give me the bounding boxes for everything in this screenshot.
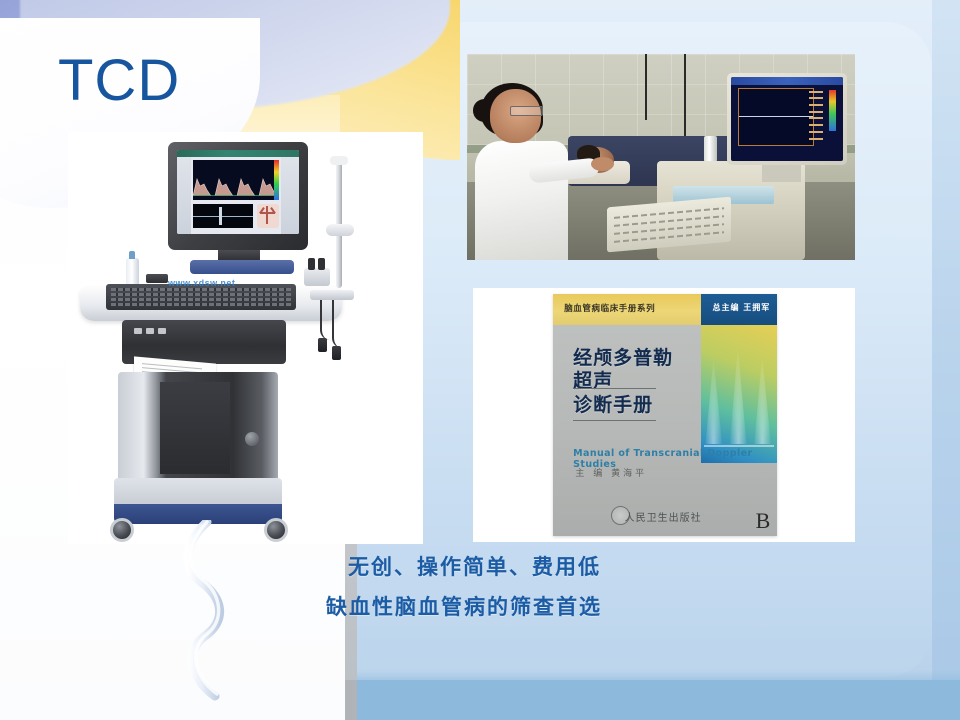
exam-screen-trace bbox=[739, 116, 813, 117]
machine-monitor-screen bbox=[177, 150, 299, 234]
right-edge-gradient bbox=[932, 0, 960, 720]
machine-pole-top-hook bbox=[330, 156, 348, 165]
book-title-line-1: 经颅多普勒 bbox=[573, 347, 673, 370]
machine-monitor-foot bbox=[218, 250, 260, 260]
screen-right-controls bbox=[281, 157, 299, 234]
tower-front-panel bbox=[160, 382, 230, 474]
machine-connector-1 bbox=[318, 338, 327, 352]
exam-screen-values bbox=[807, 88, 823, 144]
bullet-line-2: 缺血性脑血管病的筛查首选 bbox=[326, 596, 602, 619]
book-title-rule-1 bbox=[573, 388, 656, 389]
book-cover-artwork bbox=[701, 325, 777, 463]
exam-cable-1 bbox=[645, 54, 686, 120]
machine-cable-2 bbox=[332, 300, 346, 348]
screen-left-controls bbox=[177, 157, 191, 234]
book-title-line-3: 诊断手册 bbox=[573, 394, 673, 417]
book-title-line-2: 超声 bbox=[573, 370, 673, 393]
exam-clinician-face bbox=[490, 89, 540, 143]
exam-monitor bbox=[727, 73, 847, 166]
doppler-waveform-icon bbox=[193, 170, 279, 196]
tower-power-knob[interactable] bbox=[245, 432, 259, 446]
machine-tower bbox=[118, 372, 278, 484]
exam-clinician-coat bbox=[475, 141, 568, 260]
book-corner-mark: B bbox=[756, 508, 771, 534]
bottom-grey-notch bbox=[345, 680, 357, 720]
exam-screen-colorbar bbox=[829, 90, 837, 131]
machine-pole-clamp bbox=[326, 224, 354, 236]
screen-menu-bar bbox=[177, 150, 299, 157]
book-title-rule-2 bbox=[573, 420, 656, 421]
exam-gel-bottle bbox=[704, 136, 718, 163]
machine-probe bbox=[146, 274, 168, 283]
machine-monitor-base bbox=[190, 260, 294, 274]
bottom-strip-fade bbox=[357, 670, 960, 680]
book-title: 经颅多普勒 超声 诊断手册 bbox=[573, 347, 673, 417]
machine-probe-holder bbox=[304, 268, 330, 286]
exam-clinician-glasses bbox=[510, 106, 543, 116]
bullet-line-1: 无创、操作简单、费用低 bbox=[348, 556, 602, 579]
mmode-spike bbox=[219, 207, 222, 225]
exam-screen-plot bbox=[738, 88, 814, 146]
photo-book-cover: 脑血管病临床手册系列 总主编 王拥军 经颅多普勒 超声 诊断手册 Manual … bbox=[473, 288, 855, 542]
photo-tcd-machine: www.xdsw.net bbox=[68, 132, 423, 544]
book-editor-label: 主 编 黄海平 bbox=[575, 466, 647, 479]
book-publisher: 人民卫生出版社 bbox=[625, 509, 702, 524]
screen-color-scale bbox=[274, 160, 279, 200]
machine-side-rail bbox=[310, 290, 354, 300]
book-chief-editor: 总主编 王拥军 bbox=[712, 302, 770, 313]
bottom-blue-strip bbox=[357, 680, 960, 720]
machine-wheel-left bbox=[110, 518, 134, 542]
exam-monitor-screen bbox=[731, 77, 843, 162]
exam-screen-titlebar bbox=[731, 77, 843, 85]
screen-vessel-diagram bbox=[257, 204, 279, 228]
decor-ribbon bbox=[175, 520, 265, 710]
mmode-baseline bbox=[193, 216, 253, 217]
slide-canvas: TCD bbox=[0, 0, 960, 720]
screen-mmode-display bbox=[193, 204, 253, 228]
machine-wheel-right bbox=[264, 518, 288, 542]
photo-watermark: www.xdsw.net bbox=[168, 278, 235, 288]
page-title: TCD bbox=[58, 52, 180, 110]
book-cover: 脑血管病临床手册系列 总主编 王拥军 经颅多普勒 超声 诊断手册 Manual … bbox=[553, 294, 777, 536]
exam-cable-2 bbox=[684, 54, 717, 136]
photo-clinical-exam bbox=[467, 54, 855, 260]
book-series-label: 脑血管病临床手册系列 bbox=[564, 302, 655, 314]
machine-connector-2 bbox=[332, 346, 341, 360]
bullet-text-block: 无创、操作简单、费用低 缺血性脑血管病的筛查首选 bbox=[318, 556, 602, 618]
screen-doppler-spectrum bbox=[193, 160, 279, 200]
